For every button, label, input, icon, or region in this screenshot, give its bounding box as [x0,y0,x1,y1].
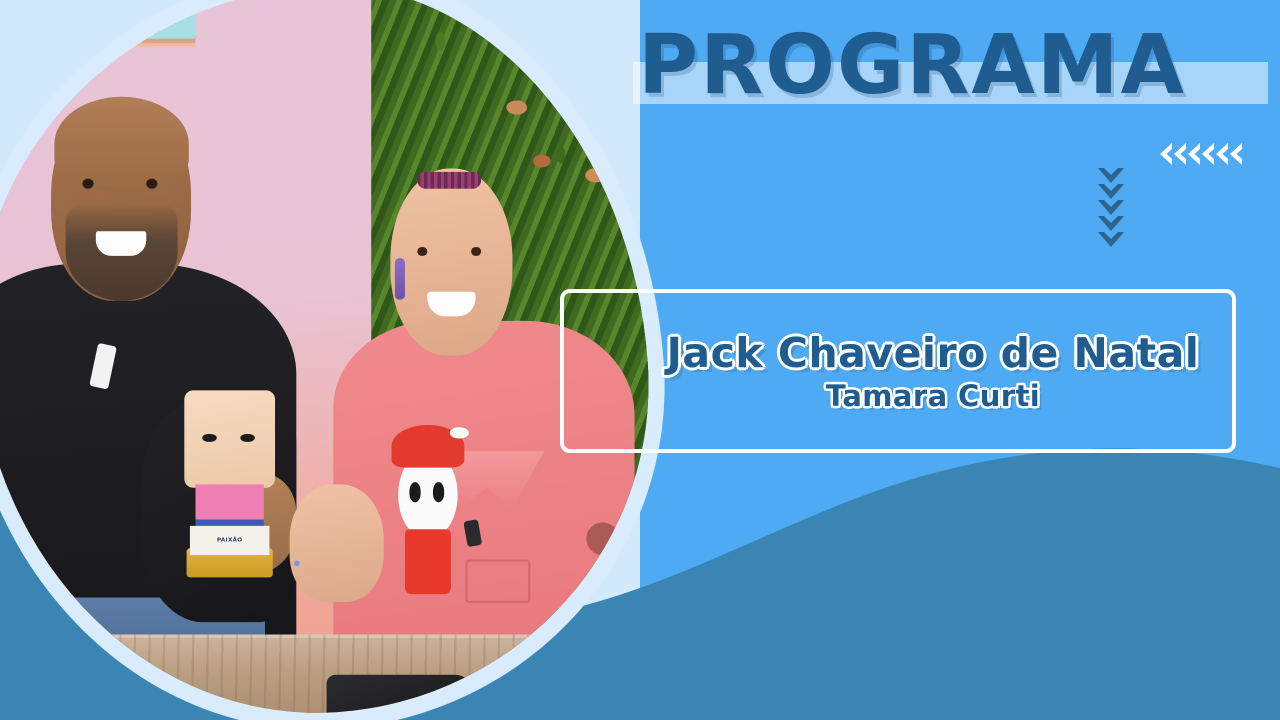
chevron-left-icon [1230,143,1243,165]
host-left-eye-left [82,178,93,188]
funko-eye-left [203,433,217,442]
chevron-left-icon [1202,143,1215,165]
jack-eye-left [409,482,421,501]
funko-head [185,391,275,488]
host-left-eye-right [147,178,158,188]
chevron-left-icon [1174,143,1187,165]
funko-figurine: PAIXÃO [185,391,275,578]
chevron-left-icon [1188,143,1201,165]
poster-canvas: PAIXÃO [0,0,1280,720]
chevron-left-icon [1216,143,1229,165]
host-right-earring [395,258,405,299]
host-right-tattoo [583,516,622,560]
chevron-left-icon-group [1160,143,1243,165]
wooden-table [0,635,559,720]
jack-hat-pompom [450,427,469,438]
host-left-smile [96,231,146,255]
funko-eye-right [240,433,254,442]
info-card-subtitle: Tamara Curti [826,379,1040,413]
host-right-hand [290,484,383,601]
chevron-down-icon [1098,232,1124,247]
jack-santa-hat [392,425,464,467]
plant-pot [91,8,158,35]
jack-keychain-figurine [387,431,469,594]
jack-eye-right [433,482,445,501]
host-right-head [390,168,512,355]
chevron-down-icon [1098,200,1124,215]
chevron-down-icon [1098,216,1124,231]
info-card-title: Jack Chaveiro de Natal [667,329,1200,377]
host-right-pocket [466,559,531,603]
chevron-down-icon [1098,184,1124,199]
funko-label: PAIXÃO [190,525,269,555]
chevron-down-icon-group [1098,168,1124,247]
host-right-headband [417,172,480,189]
jack-body [405,529,451,594]
page-title: PROGRAMA [638,17,1280,115]
chevron-down-icon [1098,168,1124,183]
host-right-eye-left [417,247,427,256]
host-left-head [51,97,191,301]
host-left-bald-head [54,97,188,191]
host-right-smile [427,292,476,316]
host-right-eye-right [471,247,481,256]
host-right-nail [294,560,300,566]
table-wood-grain [0,635,559,720]
chevron-left-icon [1160,143,1173,165]
info-card: Jack Chaveiro de Natal Tamara Curti [560,289,1236,453]
